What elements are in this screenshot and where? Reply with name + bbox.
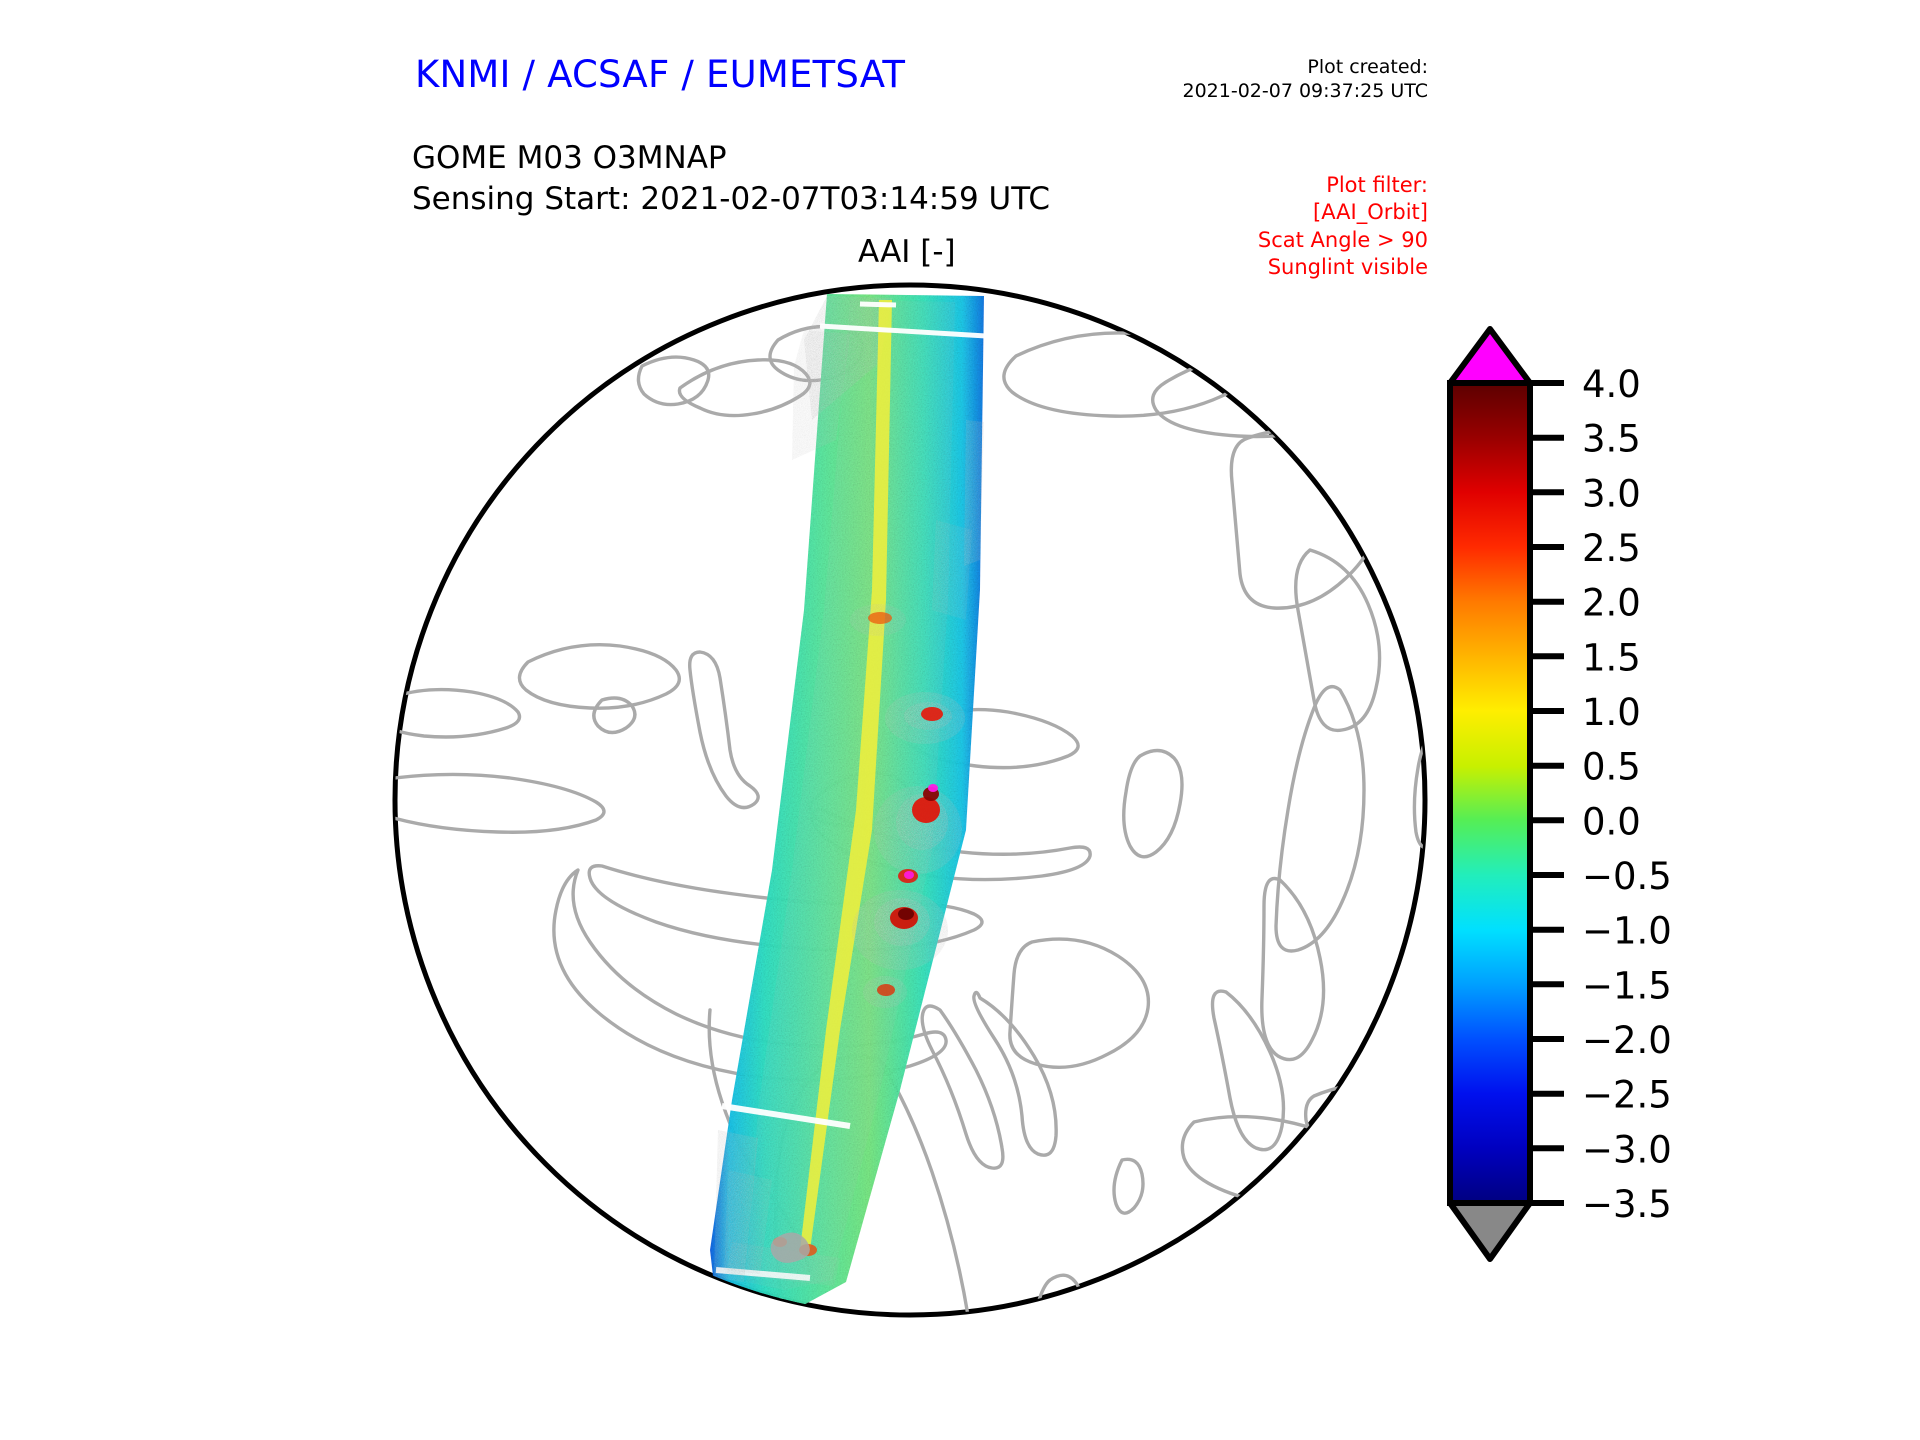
plot-created-block: Plot created: 2021-02-07 09:37:25 UTC xyxy=(1183,55,1429,104)
plume-over-range-2 xyxy=(928,784,938,792)
filter-line-2: Scat Angle > 90 xyxy=(1258,227,1428,254)
colorbar-gradient xyxy=(1450,383,1530,1203)
colorbar-tick-labels: 4.0 3.5 3.0 2.5 2.0 1.5 1.0 0.5 0.0 −0.5… xyxy=(1582,363,1672,1226)
cb-label-11: −1.5 xyxy=(1582,964,1672,1007)
filter-line-1: [AAI_Orbit] xyxy=(1258,199,1428,226)
cb-label-0: 4.0 xyxy=(1582,363,1641,406)
cb-label-1: 3.5 xyxy=(1582,418,1641,461)
sensing-start-line: Sensing Start: 2021-02-07T03:14:59 UTC xyxy=(412,179,1050,220)
plume-core-6 xyxy=(868,612,892,624)
colorbar-ticks xyxy=(1530,383,1564,1203)
cb-label-13: −2.5 xyxy=(1582,1074,1672,1117)
plot-created-timestamp: 2021-02-07 09:37:25 UTC xyxy=(1183,79,1429,103)
quantity-label: AAI [-] xyxy=(858,234,956,270)
swath-edge-blue-right-2 xyxy=(932,520,972,620)
plume-core-5 xyxy=(877,984,895,996)
plume-core-1 xyxy=(921,707,943,721)
instrument-product-line: GOME M03 O3MNAP xyxy=(412,138,1050,179)
plume-core-dark-3 xyxy=(898,908,914,920)
plot-title-block: GOME M03 O3MNAP Sensing Start: 2021-02-0… xyxy=(412,138,1050,220)
cb-label-8: 0.0 xyxy=(1582,800,1641,843)
globe-map-svg xyxy=(380,270,1440,1330)
cb-label-10: −1.0 xyxy=(1582,910,1672,953)
organisation-title: KNMI / ACSAF / EUMETSAT xyxy=(415,53,905,96)
plot-created-label: Plot created: xyxy=(1183,55,1429,79)
colorbar-svg: 4.0 3.5 3.0 2.5 2.0 1.5 1.0 0.5 0.0 −0.5… xyxy=(1440,285,1860,1330)
cb-label-12: −2.0 xyxy=(1582,1019,1672,1062)
filter-line-0: Plot filter: xyxy=(1258,172,1428,199)
cb-label-6: 1.0 xyxy=(1582,691,1641,734)
cb-label-14: −3.0 xyxy=(1582,1128,1672,1171)
cb-label-7: 0.5 xyxy=(1582,746,1641,789)
cb-label-9: −0.5 xyxy=(1582,855,1672,898)
cb-label-3: 2.5 xyxy=(1582,527,1641,570)
colorbar-under-range-arrow xyxy=(1450,1203,1530,1259)
cb-label-2: 3.0 xyxy=(1582,472,1641,515)
colorbar: 4.0 3.5 3.0 2.5 2.0 1.5 1.0 0.5 0.0 −0.5… xyxy=(1440,285,1860,1330)
cb-label-4: 2.0 xyxy=(1582,582,1641,625)
cb-label-5: 1.5 xyxy=(1582,636,1641,679)
globe-map xyxy=(380,270,1440,1330)
plume-core-2 xyxy=(912,797,940,823)
colorbar-over-range-arrow xyxy=(1450,329,1530,383)
plot-page: KNMI / ACSAF / EUMETSAT Plot created: 20… xyxy=(0,0,1920,1440)
plot-filter-block: Plot filter: [AAI_Orbit] Scat Angle > 90… xyxy=(1258,172,1428,281)
scan-gap-line-2 xyxy=(860,304,896,305)
plume-over-range-4 xyxy=(904,871,914,879)
cb-label-15: −3.5 xyxy=(1582,1183,1672,1226)
